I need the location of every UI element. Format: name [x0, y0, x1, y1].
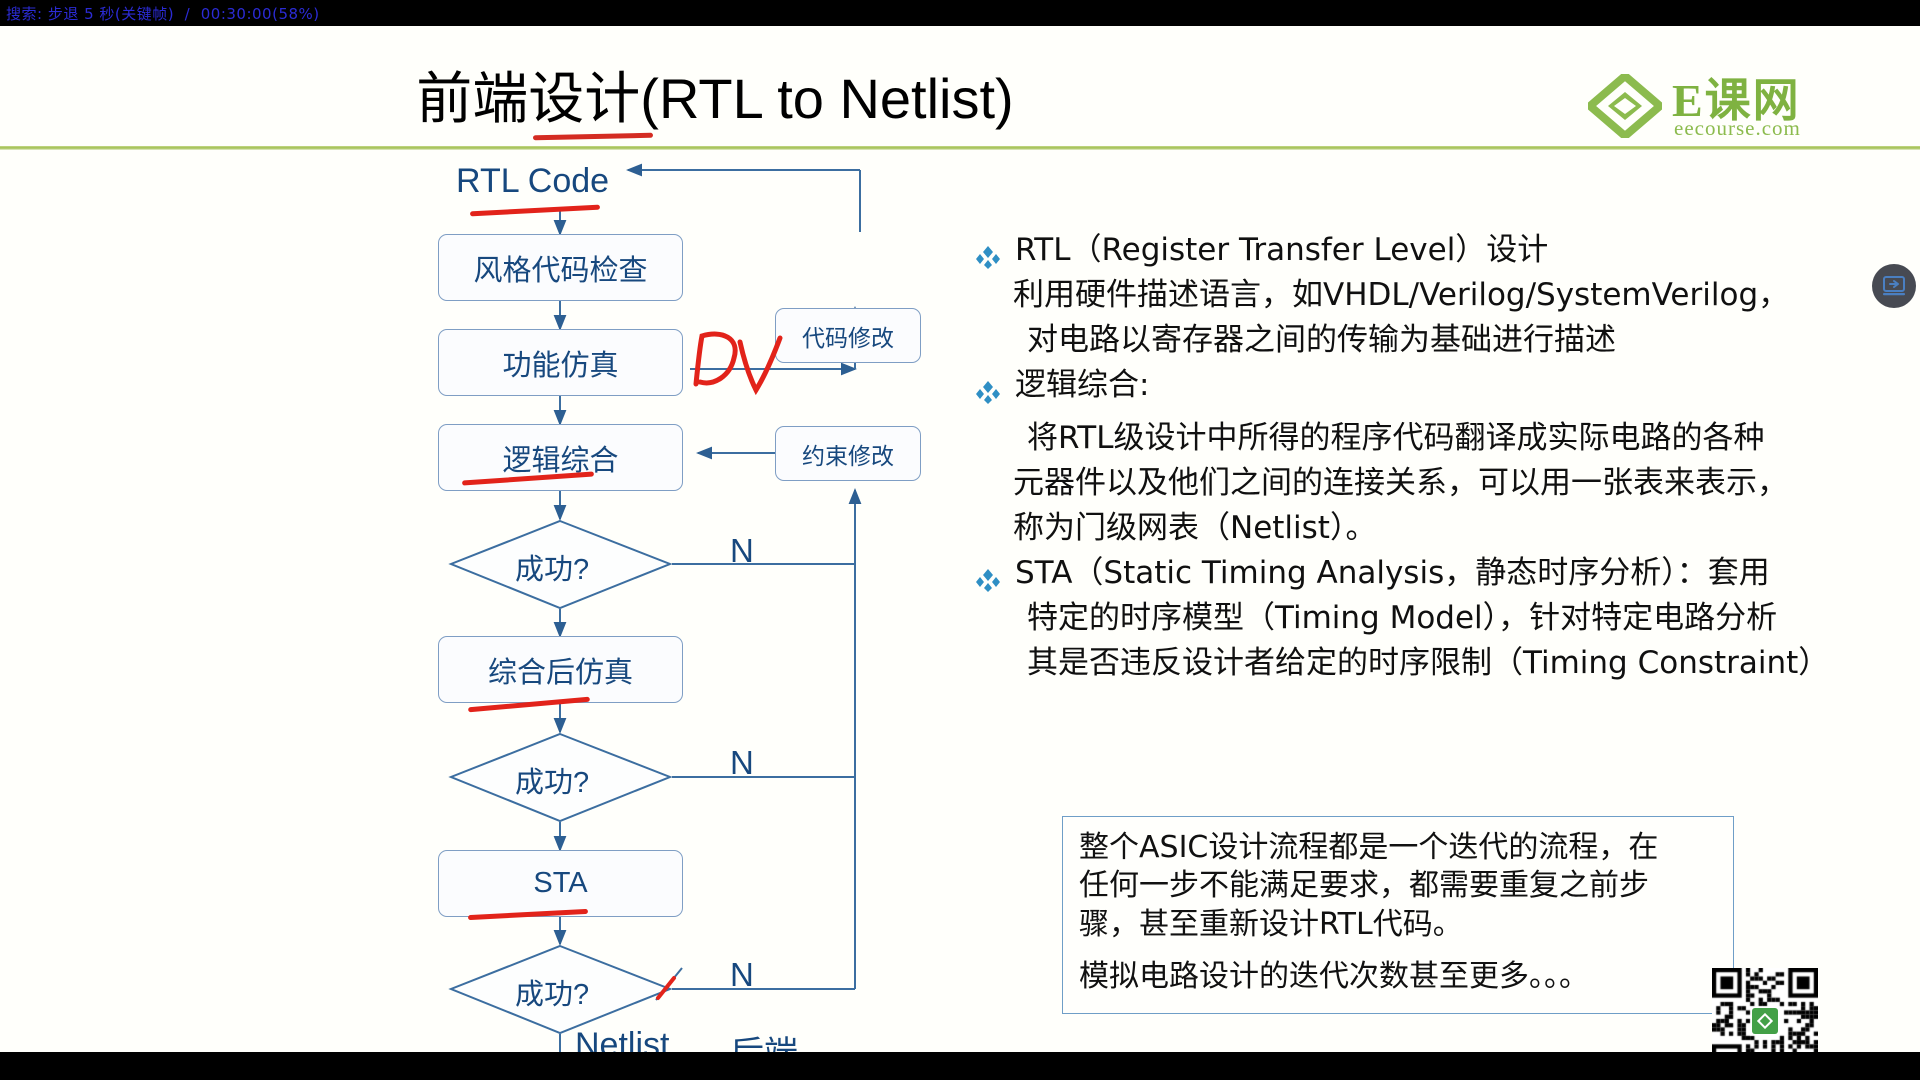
page-title: 前端设计(RTL to Netlist) [0, 54, 1430, 135]
flow-node-style-check[interactable]: 风格代码检查 [438, 234, 683, 301]
bullet-line: 元器件以及他们之间的连接关系，可以用一张表来表示， [1013, 464, 1885, 503]
flow-branch-label-1: N [730, 532, 754, 570]
video-player-stage: 搜索: 步退 5 秒(关键帧) / 00:30:00(58%) 前端设计(RTL… [0, 0, 1920, 1080]
note-line: 骤，甚至重新设计RTL代码。 [1079, 906, 1717, 944]
bullet-item-logic-synthesis: 逻辑综合: [975, 366, 1885, 409]
diamond-cluster-icon [975, 554, 1015, 597]
logo-domain: eecourse.com [1674, 116, 1801, 141]
flow-start-label: RTL Code [456, 162, 609, 201]
picture-in-picture-icon [1882, 275, 1906, 297]
bullet-item-sta: STA（Static Timing Analysis，静态时序分析）：套用 [975, 554, 1885, 597]
flow-decision-3-label: 成功? [515, 971, 589, 1013]
diamond-cluster-icon [975, 231, 1015, 274]
note-line: 整个ASIC设计流程都是一个迭代的流程，在 [1079, 829, 1717, 867]
flow-node-post-synth-sim[interactable]: 综合后仿真 [438, 636, 683, 703]
summary-note-box: 整个ASIC设计流程都是一个迭代的流程，在 任何一步不能满足要求，都需要重复之前… [1062, 816, 1734, 1014]
flow-decision-2-label: 成功? [515, 759, 589, 801]
note-line: 模拟电路设计的迭代次数甚至更多。。。 [1079, 958, 1717, 996]
flow-node-constraint-fix[interactable]: 约束修改 [775, 426, 921, 481]
picture-in-picture-button[interactable] [1872, 264, 1916, 308]
handwriting-check [652, 962, 698, 1006]
bullet-line: 其是否违反设计者给定的时序限制（Timing Constraint） [1027, 644, 1885, 683]
bullet-line: 称为门级网表（Netlist）。 [1013, 509, 1885, 548]
flow-node-label: STA [533, 867, 587, 900]
flow-decision-1-label: 成功? [515, 546, 589, 588]
front-end-design-flowchart: RTL Code 风格代码检查 功能仿真 逻辑综合 综合后仿真 STA [400, 156, 920, 1080]
flow-node-label: 功能仿真 [502, 342, 618, 384]
note-line: 任何一步不能满足要求，都需要重复之前步 [1079, 867, 1717, 905]
qr-center-logo [1752, 1008, 1778, 1034]
flow-node-sta[interactable]: STA [438, 850, 683, 917]
flow-node-label: 综合后仿真 [488, 649, 633, 691]
flow-node-func-sim[interactable]: 功能仿真 [438, 329, 683, 396]
bullet-line: 对电路以寄存器之间的传输为基础进行描述 [1027, 321, 1885, 360]
flow-node-label: 逻辑综合 [502, 437, 618, 479]
bullet-line: 特定的时序模型（Timing Model），针对特定电路分析 [1027, 599, 1885, 638]
diamond-cluster-icon [975, 366, 1015, 409]
header-divider [0, 146, 1920, 150]
bullet-heading: STA（Static Timing Analysis，静态时序分析）：套用 [1015, 554, 1770, 592]
bullet-heading: RTL（Register Transfer Level）设计 [1015, 231, 1548, 269]
brand-logo: E课网 eecourse.com [1588, 68, 1888, 146]
bullet-item-rtl: RTL（Register Transfer Level）设计 [975, 231, 1885, 274]
bullet-content-column: RTL（Register Transfer Level）设计 利用硬件描述语言，… [975, 231, 1885, 689]
player-osd-text: 搜索: 步退 5 秒(关键帧) / 00:30:00(58%) [0, 3, 320, 24]
flow-node-label: 风格代码检查 [473, 247, 647, 289]
player-bottom-bar [0, 1052, 1920, 1080]
logo-mark-icon [1588, 74, 1662, 138]
flow-branch-label-3: N [730, 956, 754, 994]
bullet-heading: 逻辑综合: [1015, 366, 1149, 404]
flow-node-label: 约束修改 [802, 437, 894, 471]
bullet-line: 利用硬件描述语言，如VHDL/Verilog/SystemVerilog， [1013, 276, 1885, 315]
flow-branch-label-2: N [730, 744, 754, 782]
bullet-line: 将RTL级设计中所得的程序代码翻译成实际电路的各种 [1027, 419, 1885, 458]
title-pen-underline [533, 133, 653, 141]
slide-canvas: 前端设计(RTL to Netlist) E课网 eecourse.com [0, 26, 1920, 1052]
handwriting-dv [688, 324, 798, 404]
note-spacer [1079, 944, 1717, 958]
flow-node-label: 代码修改 [802, 319, 894, 353]
player-osd-bar: 搜索: 步退 5 秒(关键帧) / 00:30:00(58%) [0, 0, 1920, 26]
